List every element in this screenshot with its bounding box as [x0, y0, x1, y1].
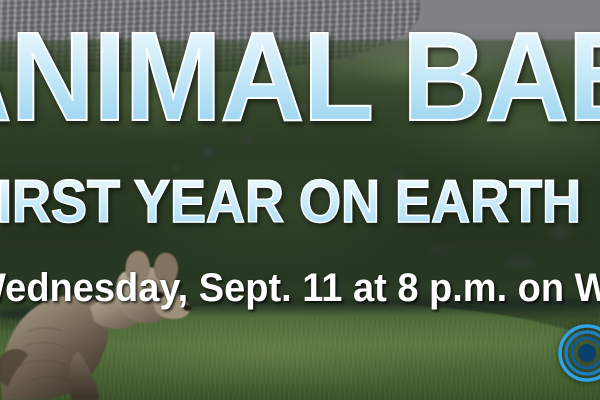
- arctic-fox-cub: [0, 235, 204, 400]
- network-circle-logo: [558, 324, 600, 382]
- promo-banner: ANIMAL BABIES FIRST YEAR ON EARTH Wednes…: [0, 0, 600, 400]
